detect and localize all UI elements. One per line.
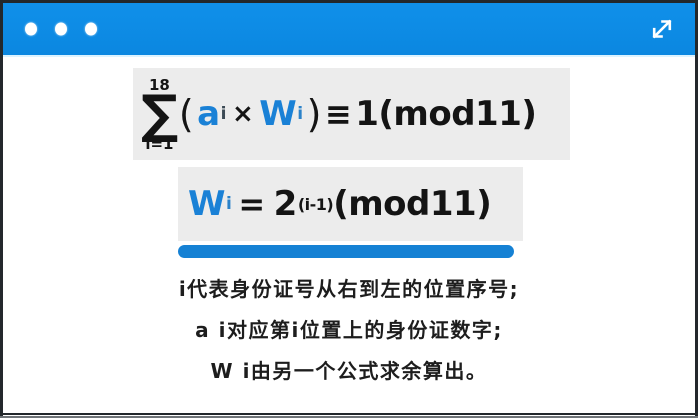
summation-operator: 18 ∑ i=1 bbox=[141, 78, 178, 153]
close-paren: ) bbox=[307, 92, 321, 136]
modulus-2: (mod11) bbox=[333, 184, 491, 224]
window-dot-icon-2[interactable] bbox=[55, 23, 67, 36]
window-dot-icon-1[interactable] bbox=[25, 23, 37, 36]
congruence-relation: ≡ bbox=[325, 95, 351, 133]
caption-block: i代表身份证号从右到左的位置序号; a i对应第i位置上的身份证数字; W i由… bbox=[3, 279, 695, 381]
term-w-2: W bbox=[188, 184, 225, 224]
multiplication-operator: × bbox=[232, 99, 253, 129]
formula-congruence-sum: 18 ∑ i=1 ( ai × Wi ) ≡ 1 (mod11) bbox=[133, 68, 570, 160]
content-area: 18 ∑ i=1 ( ai × Wi ) ≡ 1 (mod11) Wi = 2(… bbox=[3, 57, 695, 413]
sigma-icon: ∑ bbox=[141, 94, 178, 137]
caption-line-1: i代表身份证号从右到左的位置序号; bbox=[3, 279, 695, 299]
window-dot-icon-3[interactable] bbox=[85, 23, 97, 36]
caption-line-3: W i由另一个公式求余算出。 bbox=[3, 361, 695, 381]
screenshot-root: 18 ∑ i=1 ( ai × Wi ) ≡ 1 (mod11) Wi = 2(… bbox=[0, 0, 698, 418]
term-w-2-subscript: i bbox=[226, 194, 231, 214]
term-a: a bbox=[197, 94, 219, 134]
power-exponent: (i-1) bbox=[298, 195, 333, 214]
blue-underline-bar bbox=[178, 245, 514, 258]
caption-line-2: a i对应第i位置上的身份证数字; bbox=[3, 320, 695, 340]
equals-sign: = bbox=[238, 185, 264, 223]
expand-button[interactable] bbox=[645, 12, 679, 46]
term-w-subscript: i bbox=[297, 104, 302, 124]
title-bar bbox=[3, 3, 695, 55]
window-dots-group bbox=[25, 23, 97, 36]
power-base: 2 bbox=[274, 184, 297, 224]
summation-lower-limit: i=1 bbox=[145, 137, 173, 152]
modulus-1: (mod11) bbox=[378, 94, 536, 134]
term-a-subscript: i bbox=[221, 104, 226, 124]
congruence-value: 1 bbox=[355, 94, 378, 134]
open-paren: ( bbox=[179, 92, 193, 136]
expand-arrows-icon bbox=[647, 14, 677, 44]
term-w: W bbox=[259, 94, 296, 134]
formula-weight: Wi = 2(i-1) (mod11) bbox=[178, 167, 523, 241]
